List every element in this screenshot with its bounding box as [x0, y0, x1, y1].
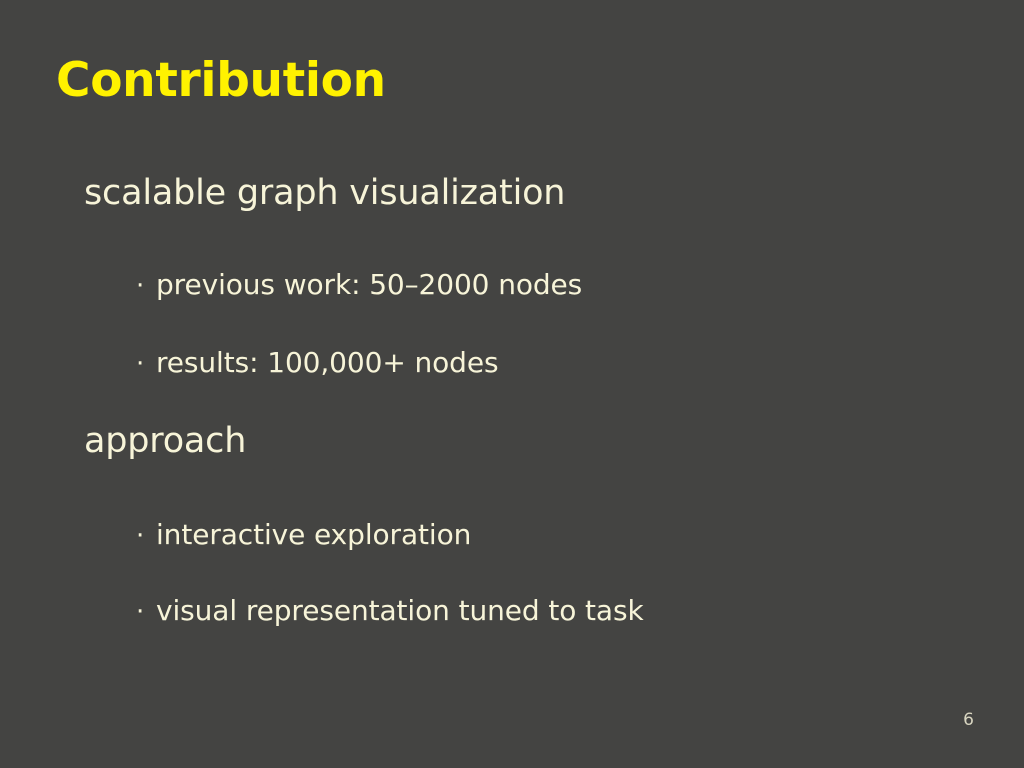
outline-item-label: visual representation tuned to task — [156, 594, 644, 628]
outline-item-level2: ·results: 100,000+ nodes — [136, 346, 498, 381]
outline-item-label: approach — [84, 421, 246, 461]
bullet-dot-icon: · — [136, 519, 156, 553]
outline-item-label: interactive exploration — [156, 518, 471, 552]
outline-item-label: scalable graph visualization — [84, 173, 565, 213]
slide-outline: scalable graph visualization ·previous w… — [0, 0, 1024, 768]
outline-item-label: results: 100,000+ nodes — [156, 346, 498, 380]
outline-item-level2: ·visual representation tuned to task — [136, 594, 644, 629]
outline-item-level1: scalable graph visualization — [84, 172, 565, 214]
outline-item-level2: ·previous work: 50–2000 nodes — [136, 268, 582, 303]
outline-item-label: previous work: 50–2000 nodes — [156, 268, 582, 302]
page-number: 6 — [963, 710, 974, 730]
outline-item-level2: ·interactive exploration — [136, 518, 471, 553]
bullet-dot-icon: · — [136, 347, 156, 381]
bullet-dot-icon: · — [136, 269, 156, 303]
bullet-dot-icon: · — [136, 595, 156, 629]
outline-item-level1: approach — [84, 420, 246, 462]
presentation-slide: Contribution scalable graph visualizatio… — [0, 0, 1024, 768]
